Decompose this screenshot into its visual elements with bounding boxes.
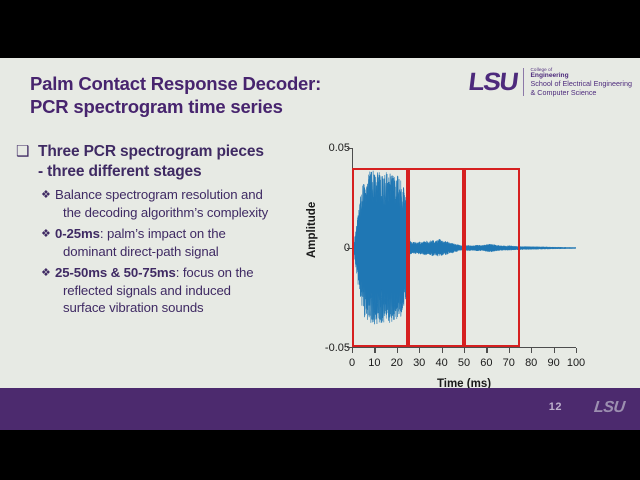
x-axis-tick	[509, 348, 510, 353]
x-axis-tick	[576, 348, 577, 353]
x-axis-tick	[531, 348, 532, 353]
list-item-text: 0-25ms: palm’s impact on the dominant di…	[55, 225, 226, 260]
x-axis-tick	[397, 348, 398, 353]
list-item-line: Three PCR spectrogram pieces	[38, 143, 264, 160]
list-item: ❖ Balance spectrogram resolution and the…	[41, 186, 316, 221]
list-item-line: Balance spectrogram resolution and	[55, 187, 263, 202]
waveform-chart: Amplitude 0.05 0 -0.05 01020304050607080…	[312, 140, 632, 425]
list-item-line: the decoding algorithm’s complexity	[55, 204, 268, 222]
region-highlight-box	[352, 168, 408, 347]
x-tick-label: 0	[349, 357, 355, 369]
x-tick-label: 10	[368, 357, 380, 369]
slide-screenshot: Palm Contact Response Decoder: PCR spect…	[0, 0, 640, 480]
list-item-text: 25-50ms & 50-75ms: focus on the reflecte…	[55, 264, 254, 317]
x-tick-label: 50	[458, 357, 470, 369]
region-highlight-box	[464, 168, 520, 347]
slide-canvas: Palm Contact Response Decoder: PCR spect…	[0, 58, 640, 430]
page-title: Palm Contact Response Decoder: PCR spect…	[30, 72, 460, 118]
y-tick-label-max: 0.05	[306, 142, 350, 154]
plot-frame: 0102030405060708090100	[352, 148, 576, 348]
list-item-line: reflected signals and induced	[55, 282, 254, 300]
x-tick-label: 60	[480, 357, 492, 369]
x-axis-tick	[352, 348, 353, 353]
y-tick-label-min: -0.05	[306, 342, 350, 354]
x-tick-label: 80	[525, 357, 537, 369]
diamond-bullet-icon: ❖	[41, 264, 55, 282]
page-number: 12	[549, 401, 562, 413]
logo-text-block: College of Engineering School of Electri…	[531, 67, 632, 97]
letterbox-bottom	[0, 430, 640, 480]
x-axis-tick	[442, 348, 443, 353]
list-item-emphasis: 25-50ms & 50-75ms	[55, 265, 176, 280]
diamond-bullet-icon: ❖	[41, 225, 55, 243]
list-item-line: dominant direct-path signal	[55, 243, 226, 261]
x-tick-label: 100	[567, 357, 585, 369]
list-item-line: : palm’s impact on the	[100, 226, 226, 241]
title-line-2: PCR spectrogram time series	[30, 95, 460, 118]
x-axis-tick	[554, 348, 555, 353]
logo-divider	[523, 68, 524, 96]
title-line-1: Palm Contact Response Decoder:	[30, 72, 460, 95]
x-axis-tick	[419, 348, 420, 353]
bullet-list: ❑ Three PCR spectrogram pieces - three d…	[16, 142, 316, 317]
x-axis-tick	[464, 348, 465, 353]
region-highlight-box	[408, 168, 464, 347]
list-item-line: - three different stages	[38, 163, 202, 180]
x-tick-label: 20	[391, 357, 403, 369]
footer-lsu-logo-icon: LSU	[593, 399, 625, 417]
y-tick-label-zero: 0	[306, 242, 350, 254]
x-axis-tick	[486, 348, 487, 353]
list-item: ❖ 25-50ms & 50-75ms: focus on the reflec…	[41, 264, 316, 317]
list-item: ❖ 0-25ms: palm’s impact on the dominant …	[41, 225, 316, 260]
footer-band: 12 LSU	[0, 388, 640, 430]
list-item-emphasis: 0-25ms	[55, 226, 100, 241]
list-item: ❑ Three PCR spectrogram pieces - three d…	[16, 142, 316, 182]
letterbox-top	[0, 0, 640, 58]
diamond-bullet-icon: ❖	[41, 186, 55, 204]
lsu-logo-lockup: LSU College of Engineering School of Ele…	[470, 64, 632, 100]
list-item-text: Balance spectrogram resolution and the d…	[55, 186, 268, 221]
list-item-line: : focus on the	[176, 265, 254, 280]
lsu-wordmark-icon: LSU	[466, 68, 521, 97]
x-tick-label: 90	[547, 357, 559, 369]
list-item-line: surface vibration sounds	[55, 299, 254, 317]
list-item-text: Three PCR spectrogram pieces - three dif…	[38, 142, 264, 182]
x-tick-label: 40	[435, 357, 447, 369]
x-tick-label: 70	[503, 357, 515, 369]
x-tick-label: 30	[413, 357, 425, 369]
square-bullet-icon: ❑	[16, 142, 38, 162]
x-axis-tick	[374, 348, 375, 353]
logo-school-line-2: & Computer Science	[531, 89, 632, 97]
